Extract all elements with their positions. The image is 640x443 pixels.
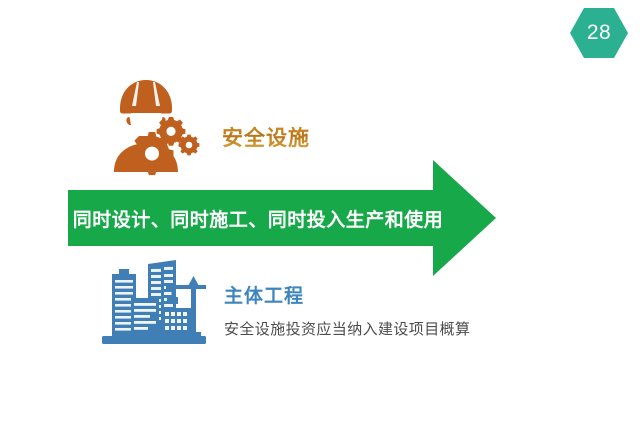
- page-number-badge: 28: [569, 7, 629, 59]
- slide-canvas: 28: [0, 0, 640, 443]
- bottom-heading: 主体工程: [224, 281, 304, 308]
- city-buildings-crane-icon: [100, 258, 208, 346]
- page-number-text: 28: [569, 7, 629, 59]
- top-heading: 安全设施: [222, 122, 310, 152]
- bottom-caption: 安全设施投资应当纳入建设项目概算: [224, 318, 470, 339]
- arrow-banner-text: 同时设计、同时施工、同时投入生产和使用: [68, 190, 448, 246]
